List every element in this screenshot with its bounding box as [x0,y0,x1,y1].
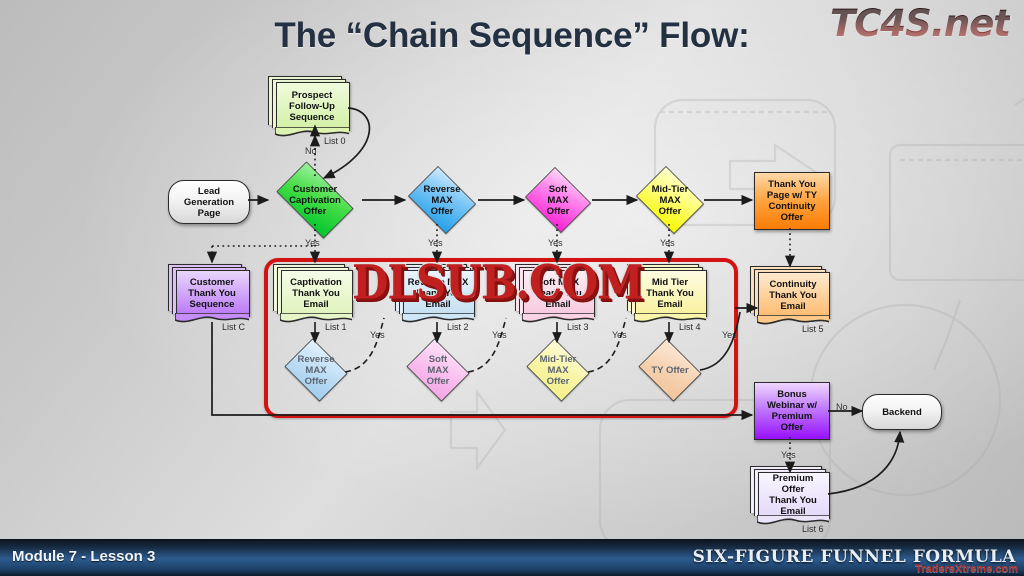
node-customer-thank-you-sequence[interactable]: Customer Thank You Sequence List C [176,270,248,316]
node-ty-offer[interactable]: TY Offer [635,342,705,398]
node-label: Soft MAX Offer [427,354,450,387]
list-label-6: List 6 [802,524,824,534]
edge-label-yes-inner-3: Yes [612,330,627,340]
footer-watermark: TradersXtreme.com [915,563,1018,575]
node-label: Reverse MAX Offer [298,354,335,387]
node-label: Reverse MAX Offer [424,184,461,217]
node-label: Captivation Thank You Email [290,277,342,310]
node-label: Mid Tier Thank You Email [646,277,694,310]
node-label: Prospect Follow-Up Sequence [289,90,335,123]
node-label: Customer Captivation Offer [289,184,341,217]
corner-watermark: TC4S.net [830,2,1010,45]
node-mid-tier-thank-you-email[interactable]: Mid Tier Thank You Email List 4 [635,270,705,316]
node-label: Premium Offer Thank You Email [769,473,817,517]
slide-canvas: The “Chain Sequence” Flow: TC4S.net Lead… [0,0,1024,576]
node-reverse-max-offer[interactable]: Reverse MAX Offer [404,170,480,230]
node-reverse-max-offer-secondary[interactable]: Reverse MAX Offer [281,342,351,398]
edge-label-yes-captivation: Yes [305,238,320,248]
center-watermark: DLSUB.COM [352,255,643,310]
node-thank-you-page[interactable]: Thank You Page w/ TY Continuity Offer [754,172,830,230]
node-soft-max-offer-secondary[interactable]: Soft MAX Offer [403,342,473,398]
node-lead-generation-page[interactable]: Lead Generation Page [168,180,250,224]
node-backend[interactable]: Backend [862,394,942,430]
edge-label-yes-reverse: Yes [428,238,443,248]
list-label-3: List 3 [567,322,589,332]
node-label: Backend [882,407,922,418]
edge-label-yes-inner-2: Yes [492,330,507,340]
node-premium-offer-thank-you-email[interactable]: Premium Offer Thank You Email List 6 [758,472,828,518]
node-label: Customer Thank You Sequence [188,277,236,310]
node-label: Thank You Page w/ TY Continuity Offer [767,179,817,223]
node-soft-max-offer[interactable]: Soft MAX Offer [522,170,594,230]
list-label-1: List 1 [325,322,347,332]
edge-label-yes-inner-4: Yes [722,330,737,340]
node-label: TY Offer [651,365,688,376]
node-mid-tier-max-offer[interactable]: Mid-Tier MAX Offer [632,170,708,230]
node-prospect-follow-up-sequence[interactable]: Prospect Follow-Up Sequence List 0 [276,82,348,130]
node-label: Lead Generation Page [184,186,234,219]
edge-label-yes-soft: Yes [548,238,563,248]
list-label-4: List 4 [679,322,701,332]
edge-label-yes-bonus: Yes [781,450,796,460]
footer-module-label: Module 7 - Lesson 3 [12,548,155,565]
node-customer-captivation-offer[interactable]: Customer Captivation Offer [268,170,362,230]
node-label: Bonus Webinar w/ Premium Offer [767,389,817,433]
edge-label-yes-inner-1: Yes [370,330,385,340]
edge-label-no-prospect: No [305,146,317,156]
node-captivation-thank-you-email[interactable]: Captivation Thank You Email List 1 [281,270,351,316]
node-label: Continuity Thank You Email [769,279,817,312]
edge-label-no-backend: No [836,402,848,412]
node-bonus-webinar[interactable]: Bonus Webinar w/ Premium Offer [754,382,830,440]
list-label-c: List C [222,322,245,332]
list-label-2: List 2 [447,322,469,332]
list-label-5: List 5 [802,324,824,334]
node-label: Soft MAX Offer [547,184,570,217]
edge-label-yes-midtier: Yes [660,238,675,248]
node-label: Mid-Tier MAX Offer [652,184,689,217]
node-label: Mid-Tier MAX Offer [540,354,577,387]
node-continuity-thank-you-email[interactable]: Continuity Thank You Email List 5 [758,272,828,318]
node-mid-tier-max-offer-secondary[interactable]: Mid-Tier MAX Offer [523,342,593,398]
list-label-0: List 0 [324,136,346,146]
footer-bar: Module 7 - Lesson 3 SIX-FIGURE FUNNEL FO… [0,539,1024,576]
